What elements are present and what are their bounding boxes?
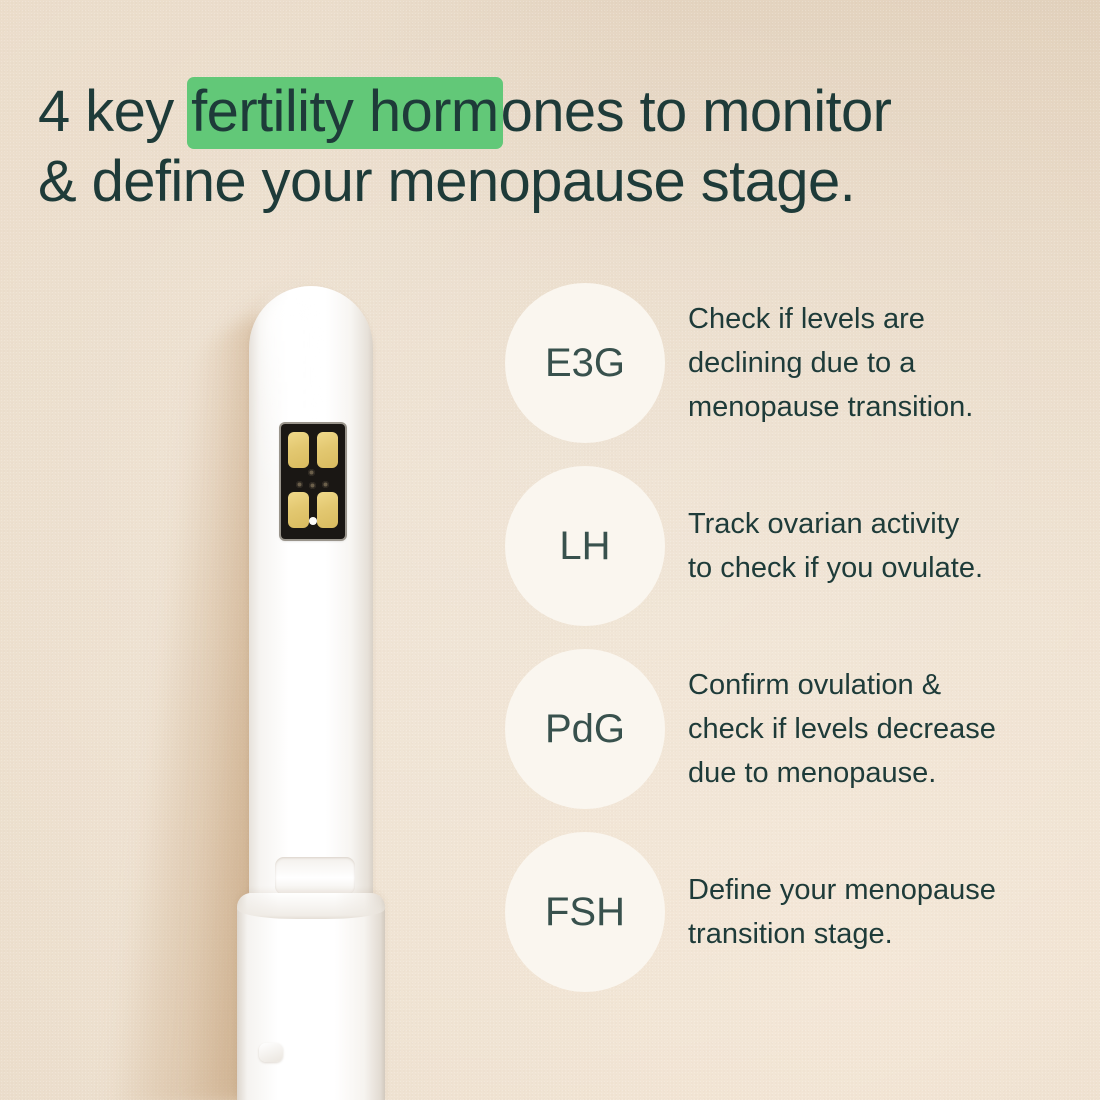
hormone-description-fsh: Define your menopause transition stage.: [688, 832, 1060, 992]
hormone-abbr-label: E3G: [545, 343, 625, 383]
page-title-highlight: fertility horm: [187, 77, 502, 149]
hormone-description-pdg: Confirm ovulation & check if levels decr…: [688, 649, 1060, 809]
page-title-line-2: & define your menopause stage.: [38, 147, 1048, 217]
hormone-abbr-label: LH: [559, 526, 610, 566]
hormone-row-lh: LH Track ovarian activity to check if yo…: [505, 466, 1065, 649]
page-title-line-1: 4 key fertility hormones to monitor: [38, 77, 1048, 147]
page-title: 4 key fertility hormones to monitor & de…: [38, 77, 1048, 217]
hormone-row-pdg: PdG Confirm ovulation & check if levels …: [505, 649, 1065, 832]
hormone-badge-fsh: FSH: [505, 832, 665, 992]
page-title-line-1-after: ones to monitor: [501, 79, 892, 144]
hormone-badge-pdg: PdG: [505, 649, 665, 809]
hormone-abbr-label: PdG: [545, 709, 625, 749]
hormone-row-e3g: E3G Check if levels are declining due to…: [505, 283, 1065, 466]
hormone-list: E3G Check if levels are declining due to…: [505, 283, 1065, 1015]
hormone-description-lh: Track ovarian activity to check if you o…: [688, 466, 1060, 626]
hormone-row-fsh: FSH Define your menopause transition sta…: [505, 832, 1065, 1015]
page-title-line-1-before: 4 key: [38, 79, 189, 144]
hormone-abbr-label: FSH: [545, 892, 625, 932]
hormone-badge-e3g: E3G: [505, 283, 665, 443]
hormone-badge-lh: LH: [505, 466, 665, 626]
hormone-description-e3g: Check if levels are declining due to a m…: [688, 283, 1060, 443]
infographic-page: 4 key fertility hormones to monitor & de…: [0, 0, 1100, 1100]
